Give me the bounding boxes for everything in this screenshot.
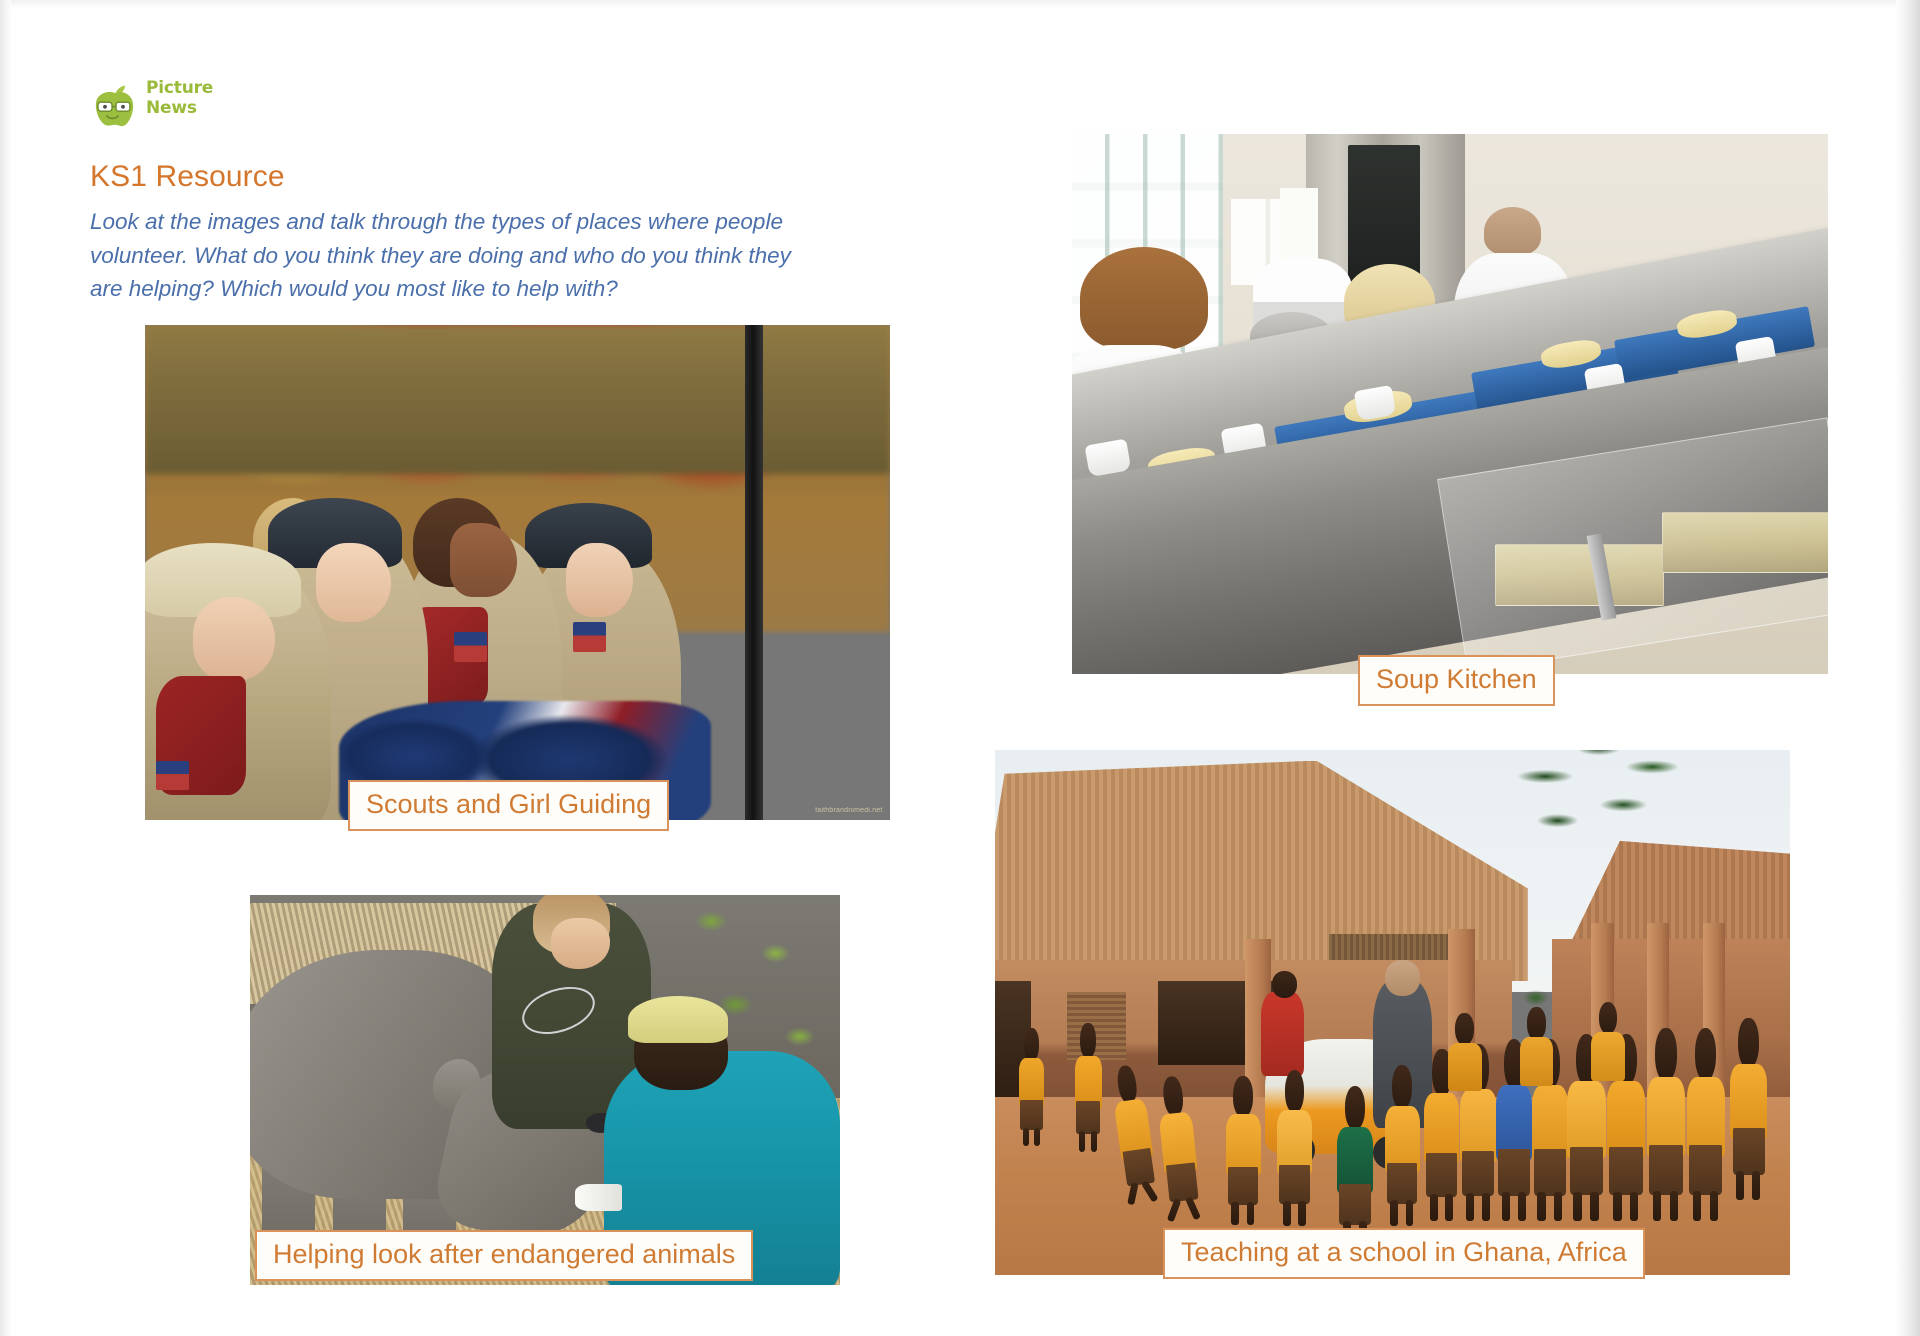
adult-red-shirt-head	[1272, 971, 1297, 998]
page-top-edge	[11, 0, 1896, 9]
apple-with-glasses-icon	[92, 84, 138, 128]
scout-2-face	[316, 543, 391, 622]
caption-ghana-school: Teaching at a school in Ghana, Africa	[1163, 1228, 1645, 1279]
photo-ghana-school	[995, 750, 1790, 1275]
picture-news-logo: Picture News	[92, 78, 272, 130]
yellow-cap-icon	[628, 996, 728, 1043]
photo-credit: faithbrandnimedi.net	[815, 807, 882, 814]
schoolchild-green-shirt	[1337, 1086, 1374, 1244]
scout-1-face	[193, 597, 275, 681]
adult-red-shirt	[1261, 992, 1304, 1076]
page-left-edge	[0, 0, 11, 1336]
caption-soup-kitchen: Soup Kitchen	[1358, 655, 1555, 706]
schoolchild-back-row	[1520, 1007, 1553, 1123]
page-title: KS1 Resource	[90, 160, 285, 194]
scouts-ground	[145, 325, 890, 474]
page-right-edge	[1896, 0, 1920, 1336]
photo-soup-kitchen	[1072, 134, 1828, 674]
feeding-bottle-icon	[575, 1184, 622, 1211]
veranda-awning	[1329, 934, 1448, 960]
schoolchild	[1647, 1028, 1685, 1217]
intro-paragraph: Look at the images and talk through the …	[90, 205, 825, 306]
schoolchild-back-row	[1591, 1002, 1624, 1118]
scout-1-flag-patch	[156, 761, 189, 791]
caption-scouts: Scouts and Girl Guiding	[348, 780, 669, 831]
schoolchild	[1687, 1028, 1725, 1217]
schoolchild	[1075, 1023, 1102, 1149]
scouts-pole	[745, 325, 763, 820]
soup-cup-3	[1353, 385, 1395, 421]
brand-line-2: News	[146, 98, 213, 118]
photo-scouts: faithbrandnimedi.net	[145, 325, 890, 820]
volunteer-teacher-head	[1385, 960, 1420, 996]
schoolchild-back-row	[1448, 1013, 1481, 1129]
scout-4-flag-patch	[573, 622, 606, 652]
schoolchild	[1385, 1065, 1420, 1223]
volunteer-standing-head	[1484, 207, 1541, 256]
schoolchild	[1019, 1028, 1044, 1144]
volunteer-auburn-hair	[1080, 247, 1209, 350]
scout-4-face	[566, 543, 633, 617]
schoolchild	[1730, 1018, 1767, 1197]
document-page: Picture News KS1 Resource Look at the im…	[0, 0, 1920, 1336]
schoolchild	[1277, 1070, 1312, 1222]
photo-endangered-animals	[250, 895, 840, 1285]
brand-wordmark: Picture News	[146, 78, 213, 118]
caption-endangered-animals: Helping look after endangered animals	[255, 1230, 753, 1281]
brand-line-1: Picture	[146, 78, 213, 98]
schoolchild	[1226, 1076, 1261, 1223]
scout-3-flag-patch	[454, 632, 487, 662]
